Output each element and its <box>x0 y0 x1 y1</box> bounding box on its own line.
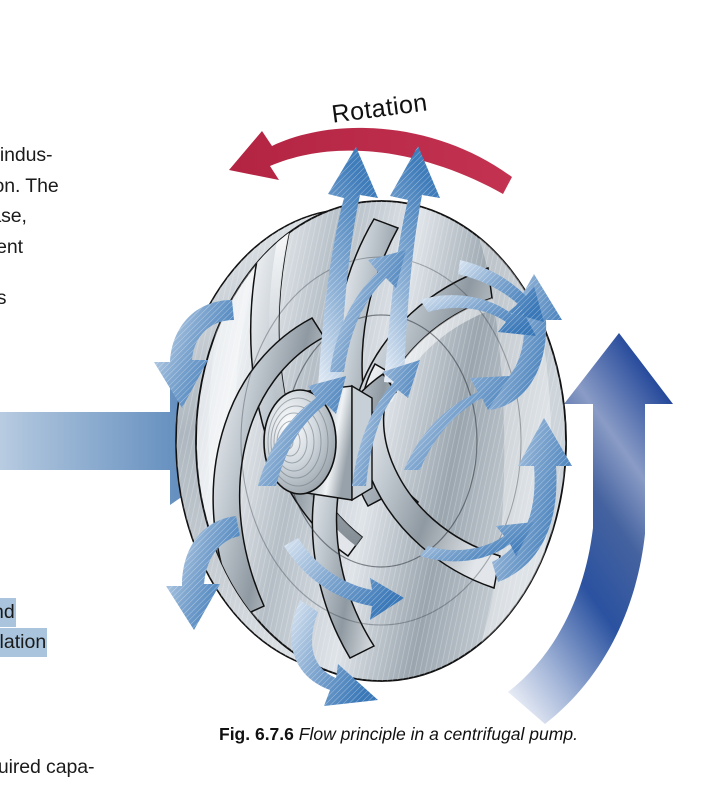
figure-caption: Fig. 6.7.6 Flow principle in a centrifug… <box>219 722 639 747</box>
body-paragraph: ne dairy indus- n question. The o purcha… <box>0 140 59 262</box>
body-line: n question. The <box>0 171 59 202</box>
body-line: ne dairy indus- <box>0 140 59 171</box>
highlighted-text-block: onse- ion line and The installation <box>0 566 47 658</box>
body-line: for different <box>0 232 59 263</box>
body-fragment-bottom: required capa- <box>0 752 94 783</box>
highlight-line: The installation <box>0 627 47 658</box>
highlight-line: ion line and <box>0 597 47 628</box>
body-fragment: ds <box>0 283 6 314</box>
body-line: o purchase, <box>0 201 59 232</box>
highlight-line: onse- <box>0 566 47 597</box>
figure-caption-text: Flow principle in a centrifugal pump. <box>299 724 578 744</box>
figure-number: Fig. 6.7.6 <box>219 724 294 744</box>
page-canvas: Rotation ne dairy indus- n question. The… <box>0 0 702 789</box>
